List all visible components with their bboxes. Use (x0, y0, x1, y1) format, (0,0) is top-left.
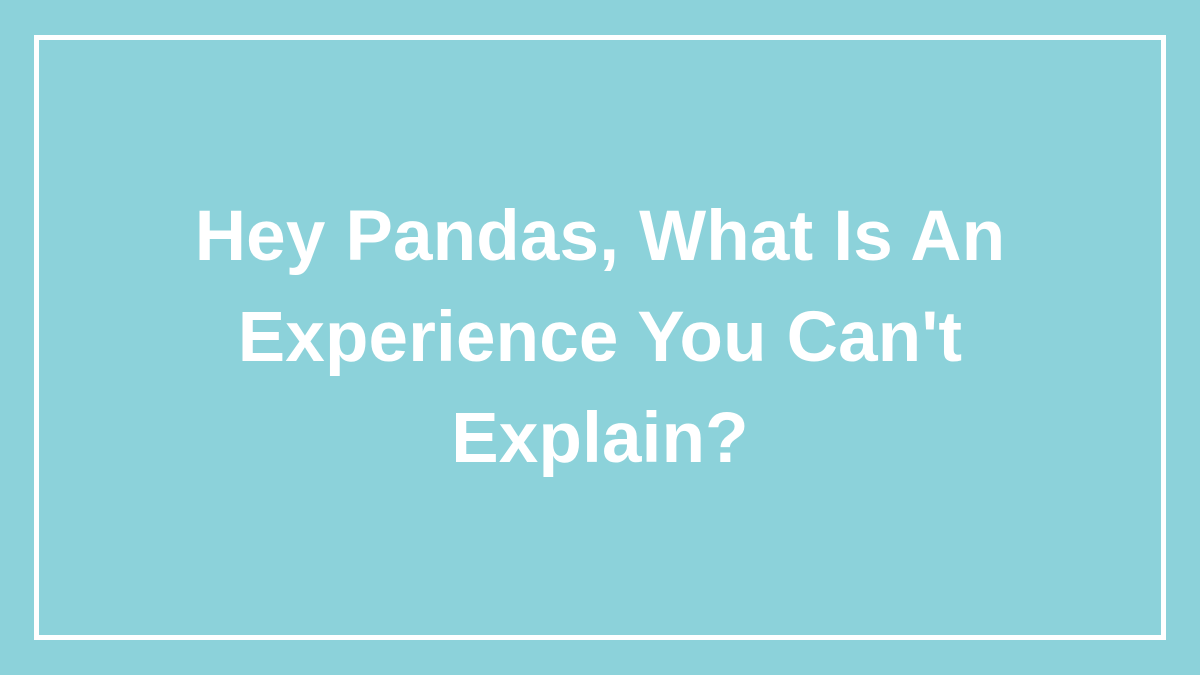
decorative-frame-border (34, 35, 1166, 640)
banner-card: Hey Pandas, What Is An Experience You Ca… (0, 0, 1200, 675)
